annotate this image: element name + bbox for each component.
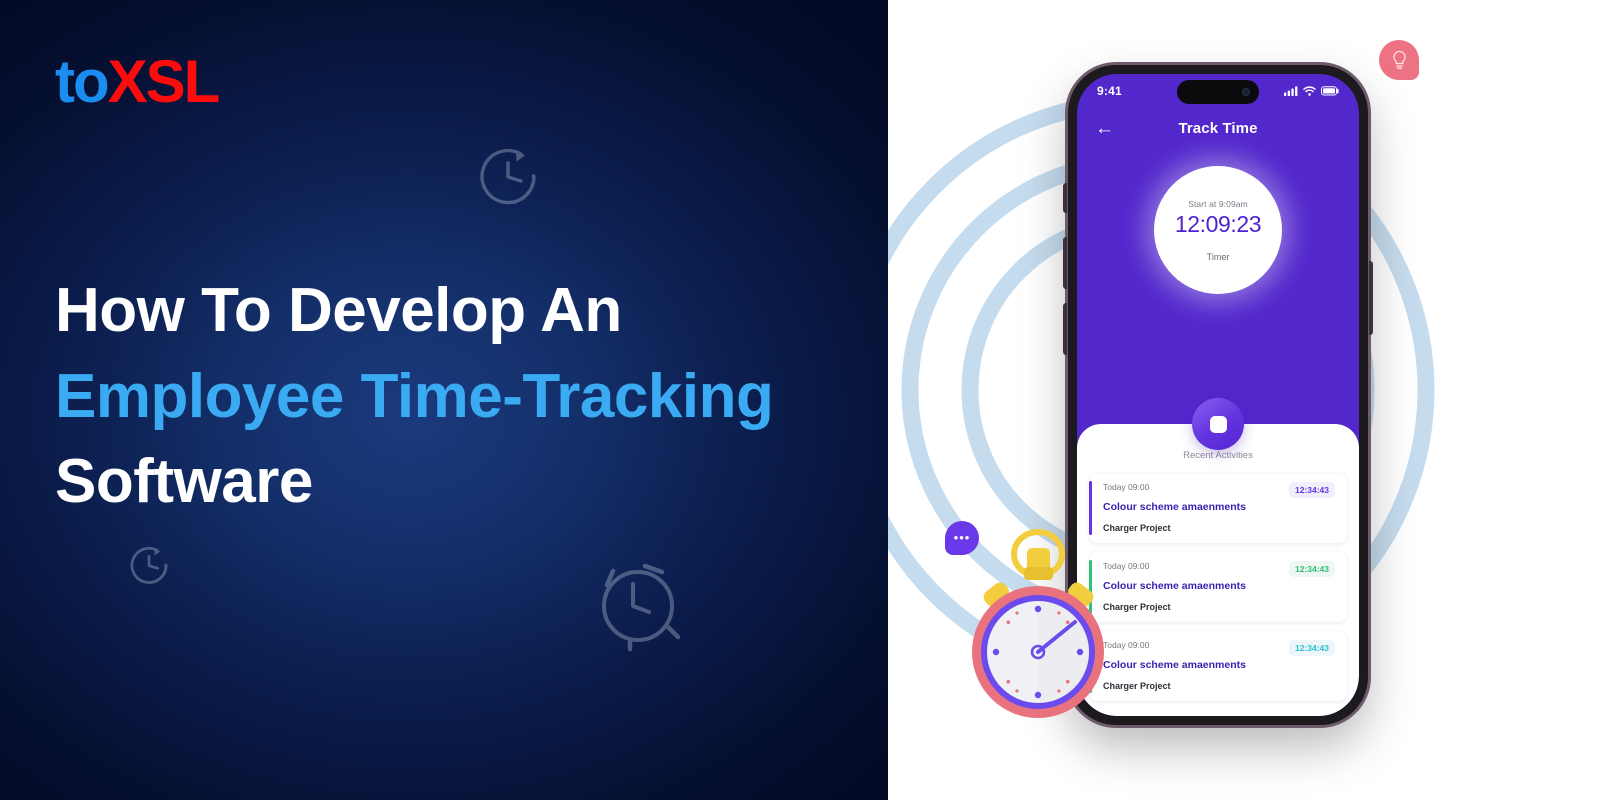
activity-project: Charger Project	[1103, 523, 1335, 533]
phone-mockup: 9:41	[1068, 65, 1368, 725]
status-bar: 9:41	[1077, 74, 1359, 108]
timer-caption: Timer	[1207, 252, 1230, 262]
activity-name: Colour scheme amaenments	[1103, 659, 1335, 671]
activity-card[interactable]: Today 09:00 12:34:43 Colour scheme amaen…	[1089, 631, 1347, 701]
activity-project: Charger Project	[1103, 602, 1335, 612]
dynamic-island	[1177, 80, 1259, 104]
phone-screen: 9:41	[1077, 74, 1359, 716]
status-bar-time: 9:41	[1097, 84, 1122, 98]
lightbulb-bubble	[1379, 40, 1419, 80]
page-title: How To Develop An Employee Time-Tracking…	[55, 268, 773, 525]
clock-rotate-icon-small	[128, 545, 174, 589]
clock-rotate-icon-large	[476, 146, 546, 212]
activity-date: Today 09:00	[1103, 482, 1149, 492]
stopwatch-illustration	[963, 512, 1113, 727]
timer-section: Start at 9:09am 12:09:23 Timer	[1077, 166, 1359, 294]
headline-line-2: Employee Time-Tracking	[55, 354, 773, 440]
promo-banner: toXSL How To Develop An Employee Time-Tr…	[0, 0, 1600, 800]
cellular-signal-icon	[1284, 86, 1298, 96]
nav-title: Track Time	[1077, 120, 1359, 137]
phone-button-volume-down[interactable]	[1063, 303, 1067, 355]
logo-text-to: to	[55, 48, 108, 115]
stopwatch-icon	[963, 512, 1113, 722]
timer-circle: Start at 9:09am 12:09:23 Timer	[1154, 166, 1282, 294]
headline-line-3: Software	[55, 439, 773, 525]
activity-duration-badge: 12:34:43	[1289, 640, 1335, 656]
recent-activities-sheet: Recent Activities Today 09:00 12:34:43 C…	[1077, 424, 1359, 716]
front-camera-icon	[1242, 88, 1250, 96]
activity-project: Charger Project	[1103, 681, 1335, 691]
wifi-icon	[1303, 86, 1316, 96]
stop-square-icon	[1210, 416, 1227, 433]
phone-button-power[interactable]	[1369, 261, 1373, 335]
lightbulb-icon	[1391, 50, 1408, 70]
timer-start-label: Start at 9:09am	[1188, 199, 1248, 209]
illustration-right-panel: ••• 9:41	[888, 0, 1600, 800]
stop-timer-button[interactable]	[1192, 398, 1244, 450]
logo-text-xsl: XSL	[108, 48, 219, 115]
recent-activities-title: Recent Activities	[1089, 450, 1347, 461]
alarm-clock-icon	[583, 554, 693, 654]
activity-card[interactable]: Today 09:00 12:34:43 Colour scheme amaen…	[1089, 473, 1347, 543]
battery-icon	[1321, 86, 1339, 96]
activity-duration-badge: 12:34:43	[1289, 561, 1335, 577]
activity-duration-badge: 12:34:43	[1289, 482, 1335, 498]
hero-left-panel: toXSL How To Develop An Employee Time-Tr…	[0, 0, 888, 800]
phone-button-silent[interactable]	[1063, 183, 1067, 213]
activity-card[interactable]: Today 09:00 12:34:43 Colour scheme amaen…	[1089, 552, 1347, 622]
app-nav-bar: ← Track Time	[1077, 108, 1359, 148]
timer-value: 12:09:23	[1175, 211, 1261, 238]
activity-name: Colour scheme amaenments	[1103, 580, 1335, 592]
headline-line-1: How To Develop An	[55, 268, 773, 354]
phone-button-volume-up[interactable]	[1063, 237, 1067, 289]
activity-name: Colour scheme amaenments	[1103, 501, 1335, 513]
brand-logo[interactable]: toXSL	[55, 52, 218, 112]
